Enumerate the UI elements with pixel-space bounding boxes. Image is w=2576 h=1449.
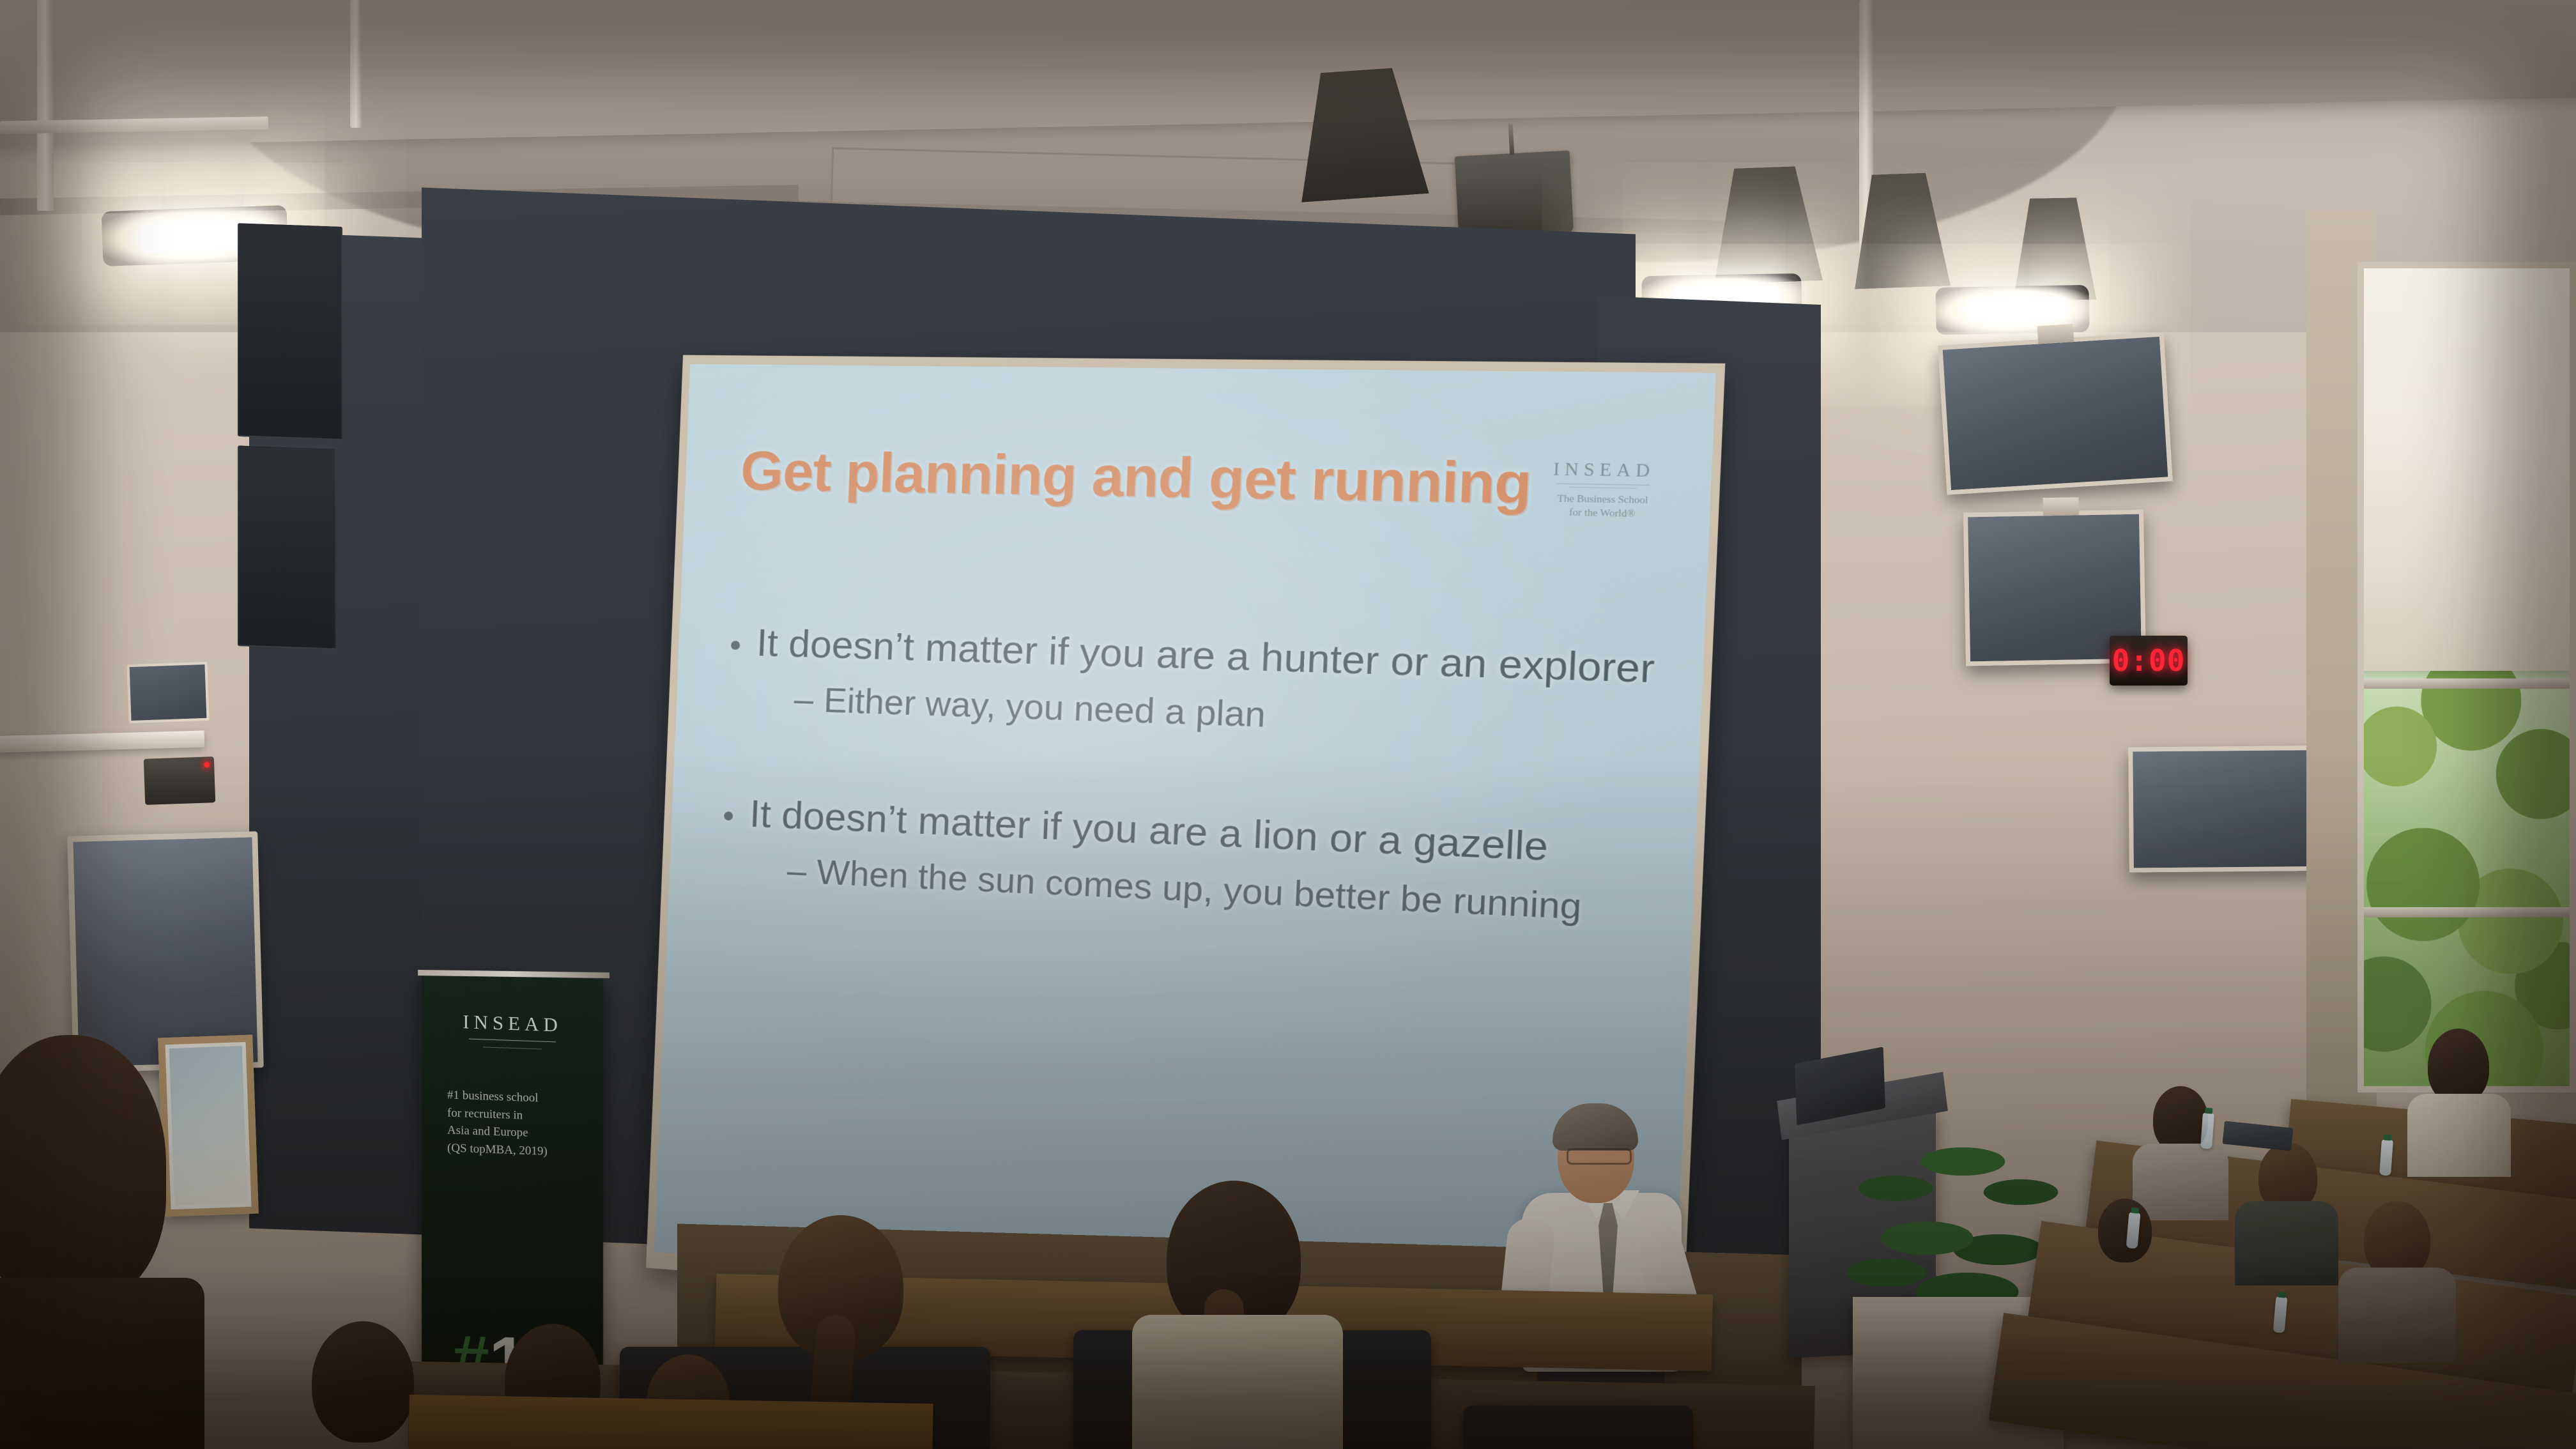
monitor-mount [2043, 497, 2078, 516]
audience-head [312, 1321, 414, 1443]
audience-torso [1132, 1315, 1343, 1449]
foreground-head [0, 1035, 166, 1303]
exterior-window [2357, 262, 2576, 1092]
wall-speaker [238, 445, 336, 649]
bottle-cap [2205, 1108, 2213, 1114]
window-blind [2357, 262, 2576, 671]
spotlight-fixture [1455, 150, 1574, 239]
ceiling-pipe [37, 0, 54, 211]
window-mullion [2357, 678, 2576, 689]
audience-torso [2338, 1268, 2456, 1363]
led-wall-clock: 0:00 [2110, 636, 2188, 686]
outdoor-foliage [2357, 645, 2576, 1092]
ceiling-lamp-core [1966, 297, 2068, 322]
clock-digits: 0:00 [2112, 643, 2186, 678]
bullet-level2-row: –Either way, you need a plan [793, 680, 1673, 749]
bullet-dash-icon: – [786, 852, 808, 891]
audience-torso [2235, 1201, 2338, 1285]
bullet-level1-text: It doesn’t matter if you are a hunter or… [756, 622, 1655, 691]
banner-claim: #1 business school for recruiters in Asi… [447, 1086, 588, 1161]
framed-picture-art [169, 1046, 248, 1206]
audience-head [2428, 1029, 2489, 1104]
slide-title: Get planning and get running [739, 439, 1533, 517]
audience-chair [1463, 1406, 1693, 1449]
slide-body: It doesn’t matter if you are a hunter or… [718, 622, 1675, 1012]
insead-wordmark: INSEAD [1552, 459, 1655, 482]
bottle-cap [2278, 1292, 2286, 1298]
window-mullion [2357, 907, 2576, 917]
logo-rule-secondary [1570, 487, 1637, 489]
bullet-dash-icon: – [793, 680, 815, 719]
bullet-level2-text: Either way, you need a plan [823, 681, 1266, 735]
bullet-block: It doesn’t matter if you are a lion or a… [721, 792, 1667, 931]
audience-torso [2407, 1094, 2511, 1177]
framed-picture [158, 1035, 259, 1217]
lecture-hall-photo: Get planning and get running INSEAD The … [0, 0, 2576, 1449]
audience-torso [2133, 1144, 2228, 1220]
projector-device [144, 756, 215, 805]
insead-tagline-line2: for the World® [1551, 506, 1653, 521]
bullet-dot-icon [724, 811, 733, 821]
logo-rule [1557, 483, 1650, 485]
presenter-hair [1552, 1103, 1638, 1151]
bottle-cap [2384, 1135, 2392, 1141]
banner-wordmark: INSEAD [422, 1009, 603, 1038]
insead-logo: INSEAD The Business School for the World… [1551, 459, 1655, 521]
bottle-cap [2131, 1207, 2139, 1214]
insead-tagline-line1: The Business School [1552, 493, 1654, 508]
projector-power-led-icon [204, 762, 210, 767]
bullet-row: It doesn’t matter if you are a hunter or… [730, 622, 1675, 692]
banner-rule-secondary [483, 1046, 542, 1049]
audience-head [2098, 1199, 2152, 1262]
bullet-dot-icon [731, 641, 740, 650]
foreground-desk [408, 1395, 933, 1449]
monitor-mount [2037, 324, 2074, 344]
banner-rule [469, 1039, 556, 1043]
ceiling-monitor [1938, 332, 2173, 494]
foreground-torso [0, 1278, 204, 1449]
ceiling-pipe [350, 0, 362, 128]
audience-head [2153, 1086, 2208, 1153]
bullet-block: It doesn’t matter if you are a hunter or… [728, 622, 1675, 749]
wall-speaker [238, 223, 342, 440]
presenter-glasses-icon [1567, 1148, 1632, 1165]
wall-small-display [126, 662, 209, 723]
